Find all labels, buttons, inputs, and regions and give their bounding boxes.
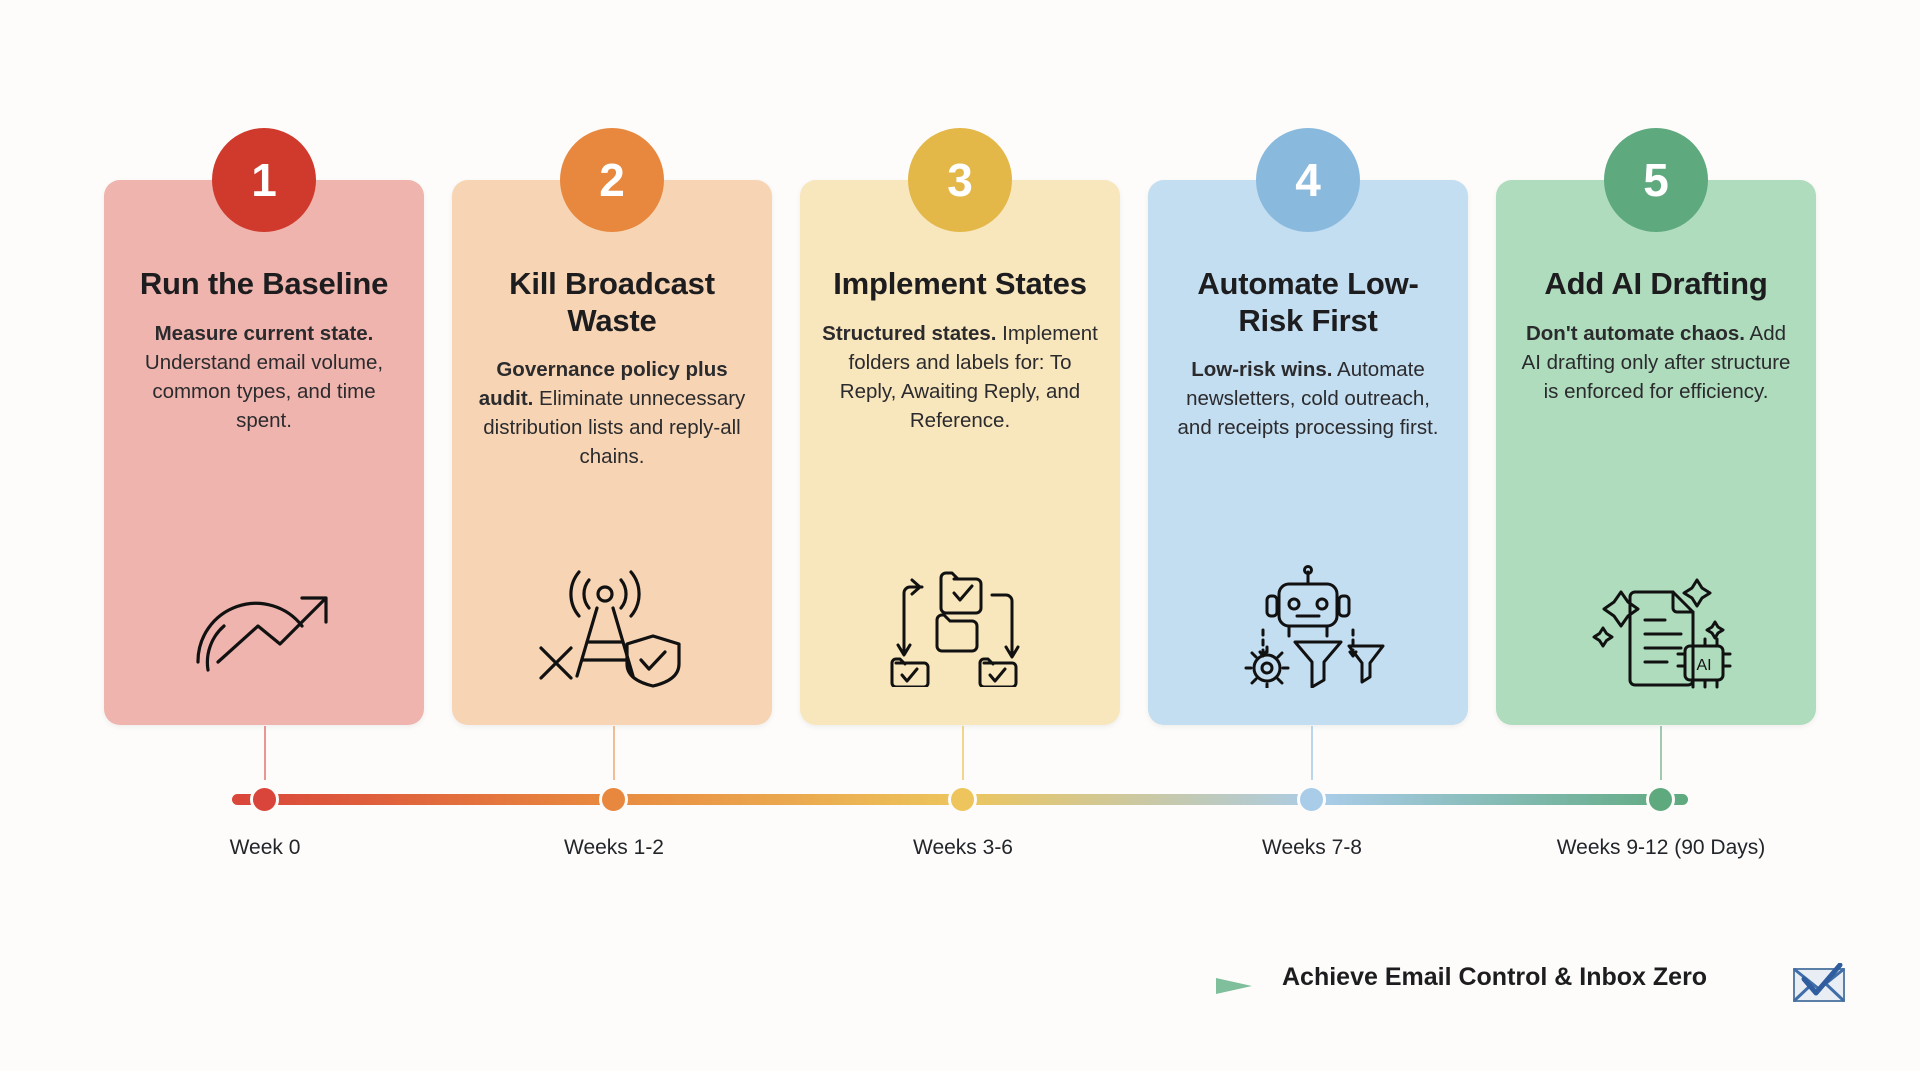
step-title-2: Kill Broadcast Waste (474, 266, 750, 339)
step-body-1: Measure current state. Understand email … (126, 319, 402, 435)
timeline-dot-4[interactable] (1297, 785, 1326, 814)
step-card-1[interactable]: 1 Run the Baseline Measure current state… (104, 180, 424, 725)
step-card-2[interactable]: 2 Kill Broadcast Waste Governance policy… (452, 180, 772, 725)
connector-stem-1 (264, 726, 266, 780)
step-number-badge-4: 4 (1256, 128, 1360, 232)
step-number-1: 1 (251, 157, 277, 203)
timeline-label-4: Weeks 7-8 (1162, 836, 1462, 860)
timeline-dot-1[interactable] (250, 785, 279, 814)
timeline-label-5: Weeks 9-12 (90 Days) (1511, 836, 1811, 860)
step-body-2: Governance policy plus audit. Eliminate … (474, 355, 750, 471)
broadcast-tower-blocked-icon (452, 561, 772, 691)
step-card-5[interactable]: 5 Add AI Drafting Don't automate chaos. … (1496, 180, 1816, 725)
timeline-label-3: Weeks 3-6 (813, 836, 1113, 860)
step-card-3[interactable]: 3 Implement States Structured states. Im… (800, 180, 1120, 725)
step-body-4: Low-risk wins. Automate newsletters, col… (1170, 355, 1446, 442)
progress-arrow (104, 978, 1254, 994)
step-title-5: Add AI Drafting (1518, 266, 1794, 303)
step-number-5: 5 (1643, 157, 1669, 203)
svg-text:AI: AI (1696, 657, 1711, 674)
step-number-badge-1: 1 (212, 128, 316, 232)
step-title-1: Run the Baseline (126, 266, 402, 303)
step-lead-1: Measure current state. (155, 322, 374, 345)
envelope-check-icon (1790, 963, 1848, 1012)
step-body-5: Don't automate chaos. Add AI drafting on… (1518, 319, 1794, 406)
timeline-dot-2[interactable] (599, 785, 628, 814)
footer-caption: Achieve Email Control & Inbox Zero (1282, 963, 1707, 992)
robot-automation-icon (1148, 561, 1468, 691)
gauge-growth-icon (104, 561, 424, 691)
connector-stem-3 (962, 726, 964, 780)
connector-stem-5 (1660, 726, 1662, 780)
step-number-badge-2: 2 (560, 128, 664, 232)
step-title-4: Automate Low-Risk First (1170, 266, 1446, 339)
steps-row: 1 Run the Baseline Measure current state… (104, 180, 1816, 725)
connector-stem-4 (1311, 726, 1313, 780)
step-body-3: Structured states. Implement folders and… (822, 319, 1098, 435)
connector-stem-2 (613, 726, 615, 780)
timeline-label-2: Weeks 1-2 (464, 836, 764, 860)
step-number-2: 2 (599, 157, 625, 203)
timeline-label-1: Week 0 (115, 836, 415, 860)
ai-document-sparkle-icon: AI (1496, 561, 1816, 691)
step-number-3: 3 (947, 157, 973, 203)
timeline-dot-5[interactable] (1646, 785, 1675, 814)
timeline-dot-3[interactable] (948, 785, 977, 814)
step-title-3: Implement States (822, 266, 1098, 303)
step-card-4[interactable]: 4 Automate Low-Risk First Low-risk wins.… (1148, 180, 1468, 725)
step-number-badge-5: 5 (1604, 128, 1708, 232)
step-lead-4: Low-risk wins. (1191, 358, 1332, 381)
step-number-badge-3: 3 (908, 128, 1012, 232)
step-text-1: Understand email volume, common types, a… (145, 351, 383, 432)
folders-workflow-icon (800, 561, 1120, 691)
step-lead-3: Structured states. (822, 322, 996, 345)
infographic-canvas: 1 Run the Baseline Measure current state… (0, 0, 1920, 1071)
step-number-4: 4 (1295, 157, 1321, 203)
step-lead-5: Don't automate chaos. (1526, 322, 1745, 345)
